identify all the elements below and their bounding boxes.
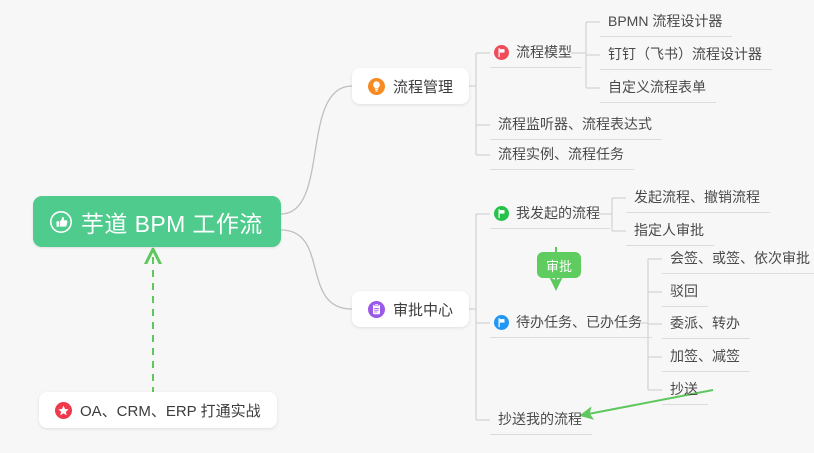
node-label-todo-done-tasks: 待办任务、已办任务 [516,312,642,332]
node-label-carbon-copy: 抄送 [670,379,698,399]
node-label-countersign-orsign-sequential: 会签、或签、依次审批 [670,248,810,268]
node-my-initiated-process[interactable]: 我发起的流程 [490,198,610,229]
thumbs-up-icon [50,211,72,233]
star-icon [55,402,72,419]
node-process-instance-task[interactable]: 流程实例、流程任务 [490,139,634,170]
branch-label-process-management: 流程管理 [393,76,453,97]
root-label: 芋道 BPM 工作流 [81,205,263,239]
curve-root-to-approval-center [281,230,352,309]
branch-node-process-management[interactable]: 流程管理 [352,68,469,104]
node-process-model[interactable]: 流程模型 [490,37,582,68]
ortho-process-management [463,53,490,155]
flag-icon [494,45,509,60]
node-todo-done-tasks[interactable]: 待办任务、已办任务 [490,307,652,338]
node-label-my-initiated-process: 我发起的流程 [516,203,600,223]
curve-root-to-process-management [281,86,352,214]
node-process-listener-expression[interactable]: 流程监听器、流程表达式 [490,109,662,140]
flag-icon [494,206,509,221]
node-label-process-listener-expression: 流程监听器、流程表达式 [498,114,652,134]
branch-node-approval-center[interactable]: 审批中心 [352,291,469,327]
node-carbon-copy[interactable]: 抄送 [662,374,708,405]
annotation-approval-pill: 审批 [537,252,581,278]
node-label-delegate-transfer: 委派、转办 [670,313,740,333]
root-node[interactable]: 芋道 BPM 工作流 [33,196,281,247]
mindmap-canvas: 芋道 BPM 工作流 流程管理 流程模型 BPMN 流程设计器 钉钉（飞书 [0,0,814,453]
annotation-integration-label: OA、CRM、ERP 打通实战 [80,400,261,421]
node-add-remove-sign[interactable]: 加签、减签 [662,341,750,372]
node-dingtalk-feishu-designer[interactable]: 钉钉（飞书）流程设计器 [600,39,772,70]
annotation-approval-label: 审批 [546,256,572,275]
node-label-cc-to-me-process: 抄送我的流程 [498,409,582,429]
node-label-dingtalk-feishu-designer: 钉钉（飞书）流程设计器 [608,44,762,64]
node-countersign-orsign-sequential[interactable]: 会签、或签、依次审批 [662,243,814,274]
node-label-reject: 驳回 [670,281,698,301]
node-label-designated-approver: 指定人审批 [634,220,704,240]
clipboard-icon [368,301,385,318]
node-custom-process-form[interactable]: 自定义流程表单 [600,72,716,103]
node-label-bpmn-designer: BPMN 流程设计器 [608,11,722,31]
node-label-process-instance-task: 流程实例、流程任务 [498,144,624,164]
node-label-process-model: 流程模型 [516,42,572,62]
node-designated-approver[interactable]: 指定人审批 [626,215,714,246]
node-reject[interactable]: 驳回 [662,276,708,307]
root-branch-curves [281,86,352,309]
annotation-integration-note[interactable]: OA、CRM、ERP 打通实战 [39,392,277,428]
node-label-custom-process-form: 自定义流程表单 [608,77,706,97]
flag-icon [494,315,509,330]
node-label-start-cancel-process: 发起流程、撤销流程 [634,187,760,207]
node-cc-to-me-process[interactable]: 抄送我的流程 [490,404,592,435]
node-start-cancel-process[interactable]: 发起流程、撤销流程 [626,182,770,213]
node-delegate-transfer[interactable]: 委派、转办 [662,308,750,339]
branch-label-approval-center: 审批中心 [393,299,453,320]
node-label-add-remove-sign: 加签、减签 [670,346,740,366]
lightbulb-icon [368,78,385,95]
node-bpmn-designer[interactable]: BPMN 流程设计器 [600,6,732,37]
